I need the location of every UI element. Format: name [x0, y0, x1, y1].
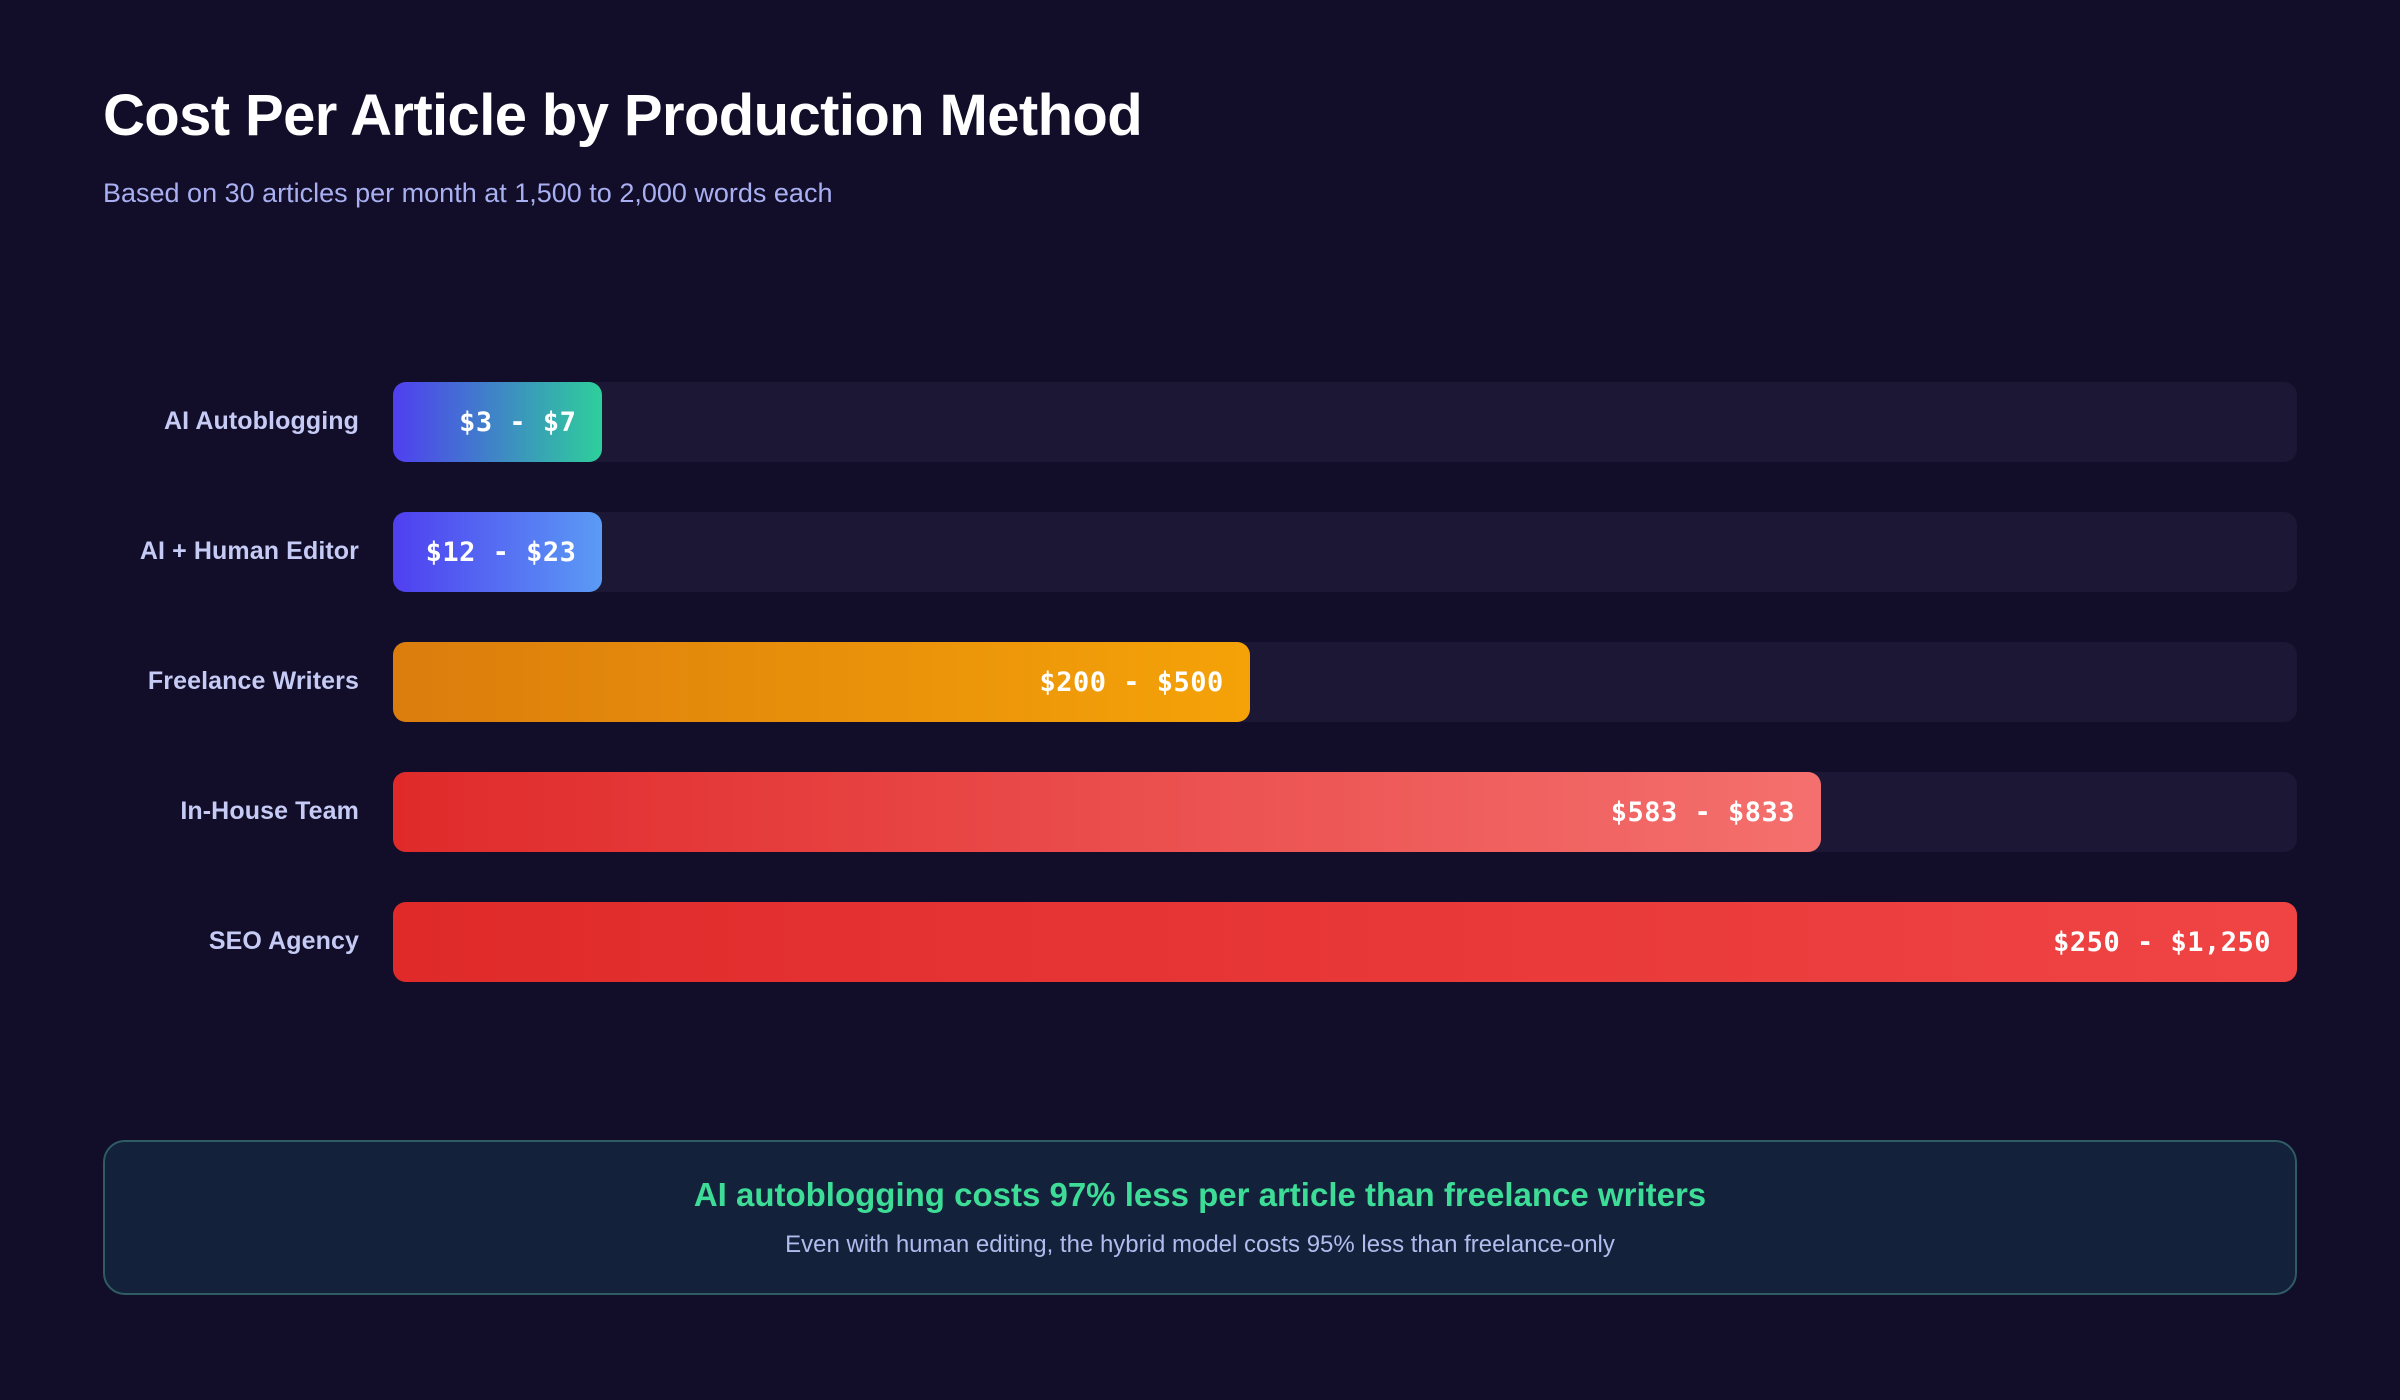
callout-subtext: Even with human editing, the hybrid mode…	[785, 1231, 1615, 1260]
bar-track: $583 - $833	[393, 772, 2297, 852]
bar-category-label-ai-human-editor: AI + Human Editor	[103, 538, 393, 566]
bar-value-label: $200 - $500	[1039, 667, 1223, 698]
bar-row: SEO Agency $250 - $1,250	[103, 902, 2297, 982]
bar-fill-in-house-team[interactable]: $583 - $833	[393, 772, 1821, 852]
page-title: Cost Per Article by Production Method	[103, 84, 2297, 149]
bar-track: $3 - $7	[393, 382, 2297, 462]
bar-category-label-in-house-team: In-House Team	[103, 798, 393, 826]
insight-callout: AI autoblogging costs 97% less per artic…	[103, 1140, 2297, 1295]
bar-fill-ai-autoblogging[interactable]: $3 - $7	[393, 382, 602, 462]
bar-track: $250 - $1,250	[393, 902, 2297, 982]
chart-header: Cost Per Article by Production Method Ba…	[103, 0, 2297, 209]
bar-value-label: $250 - $1,250	[2053, 927, 2271, 958]
bar-fill-seo-agency[interactable]: $250 - $1,250	[393, 902, 2297, 982]
bar-row: In-House Team $583 - $833	[103, 772, 2297, 852]
bar-category-label-freelance-writers: Freelance Writers	[103, 668, 393, 696]
chart-canvas: Cost Per Article by Production Method Ba…	[0, 0, 2400, 1400]
bar-category-label-seo-agency: SEO Agency	[103, 928, 393, 956]
chart-subtitle: Based on 30 articles per month at 1,500 …	[103, 177, 2297, 209]
bar-row: AI + Human Editor $12 - $23	[103, 512, 2297, 592]
bar-row: AI Autoblogging $3 - $7	[103, 382, 2297, 462]
bar-category-label-ai-autoblogging: AI Autoblogging	[103, 408, 393, 436]
bar-value-label: $3 - $7	[459, 407, 576, 438]
bar-value-label: $12 - $23	[426, 537, 577, 568]
bar-track: $200 - $500	[393, 642, 2297, 722]
bar-value-label: $583 - $833	[1611, 797, 1795, 828]
bar-track: $12 - $23	[393, 512, 2297, 592]
callout-headline: AI autoblogging costs 97% less per artic…	[694, 1175, 1706, 1215]
bar-chart: AI Autoblogging $3 - $7 AI + Human Edito…	[103, 382, 2297, 982]
bar-row: Freelance Writers $200 - $500	[103, 642, 2297, 722]
bar-fill-ai-human-editor[interactable]: $12 - $23	[393, 512, 602, 592]
bar-fill-freelance-writers[interactable]: $200 - $500	[393, 642, 1250, 722]
